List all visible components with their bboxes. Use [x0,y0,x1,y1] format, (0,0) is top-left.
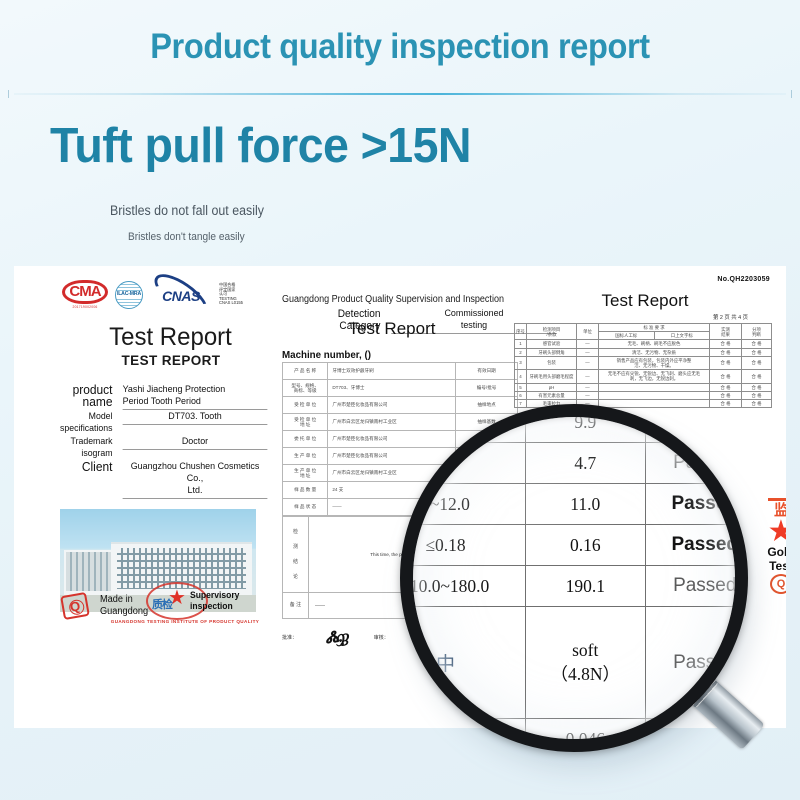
page-indicator: 第 2 页 共 4 页 [514,313,776,321]
cell-judgement: Passed [645,525,748,566]
cell-value: 190.1 [526,566,645,607]
cell-judgement: Passed [645,719,748,753]
cell-requirement [599,383,710,391]
certificate-title: Test Report [49,323,268,352]
cell-requirement: 无毛不应有尖锐、无锐边、无飞刺、磨头应无毛刺，无飞边，无锐边刺。 [599,370,710,383]
col-unit: 单位 [577,324,599,340]
certificate-title-en: TEST REPORT [44,353,272,368]
cell-spec [400,404,526,443]
right-report-title: Test Report [514,291,776,311]
cell-value: 牙博士双效护龈牙刷 [328,363,456,380]
cell-value: 9.9 [526,404,645,443]
cell-value: soft（4.8N） [526,607,645,719]
cell-value: 4.7 [526,443,645,484]
cell-judgement: 合 格 [742,348,772,356]
machine-number-label: Machine number, () [282,349,515,361]
certificate-panel: CMA 201719002006 ILAC-MRA CNAS 中国合格评定国家认… [44,280,272,680]
right-report-table: 序号 检测项目/条款 单位 标 准 要 求 实测结果 分项判断 国标人工标 口上… [514,323,772,408]
cell-requirement: 销售产品应有包装，包装内外应平净整洁、无污物、干燥。 [599,356,710,369]
subcol-b: 口上文字标 [654,332,710,340]
table-row: 产 品 名 称 牙博士双效护龈牙刷 有效日期 [283,363,518,380]
cell-judgement: combine [645,404,748,443]
cell-right: 有效日期 [456,363,518,380]
cell-result: 合 格 [710,340,742,348]
col-item: 检测项目/条款 [527,324,577,340]
field-trademark-isogram: Trademark isogram Doctor [44,436,272,460]
certificate-fields: productname Yashi Jiacheng ProtectionPer… [44,384,272,499]
approve-label: 批准： [282,634,297,641]
cell-item: 感官试验 [527,340,577,348]
cell-unit: — [577,356,599,369]
table-row: .0 4.7 Passed [400,443,748,484]
accreditation-logos: CMA 201719002006 ILAC-MRA CNAS 中国合格评定国家认… [44,280,272,309]
col-no: 序号 [515,324,527,340]
cell-item: 牙刷毛用头部磨毛程度 [527,370,577,383]
field-client: Client Guangzhou Chushen Cosmetics Co.,L… [44,461,272,499]
cell-result: 合 格 [710,370,742,383]
supervisory-inspection-label: Supervisory inspection [190,590,264,612]
cell-unit: — [577,348,599,356]
col-judgement: 分项判断 [742,324,772,340]
right-report-panel: No.QH2203059 Test Report 第 2 页 共 4 页 序号 … [514,276,776,408]
cnas-caption: 中国合格评定国家认可TESTINGCNAS L0155 [219,283,243,306]
cell-result: 合 格 [710,383,742,391]
field-model-specifications: Model specifications DT703. Tooth [44,411,272,435]
table-row: 3 包装 — 销售产品应有包装，包装内外应平净整洁、无污物、干燥。 合 格 合 … [515,356,772,369]
cell-no: 2 [515,348,527,356]
cell-judgement: 合 格 [742,356,772,369]
cell-key: 受 检 单 位地 址 [283,414,328,431]
page-title: Product quality inspection report [28,0,772,67]
cell-result: 合 格 [710,356,742,369]
q-mark-icon: Q [60,592,90,620]
cell-unit: — [577,370,599,383]
table-row: 2 牙刷头部倒角 — 清洁、无污物、无杂质 合 格 合 格 [515,348,772,356]
cell-item: pH [527,383,577,391]
table-row: 110.0~180.0 190.1 Passed [400,566,748,607]
cell-judgement: 合 格 [742,383,772,391]
cell-key: 产 品 名 称 [283,363,328,380]
table-header-row: 序号 检测项目/条款 单位 标 准 要 求 实测结果 分项判断 [515,324,772,332]
cell-key: 生 产 单 位 [283,448,328,465]
cell-key: 样 品 数 量 [283,482,328,499]
table-row: 于 0.08mm 0.046 Passed [400,719,748,753]
cell-key: 型号、规格、商标、等级 [283,380,328,397]
subcol-a: 国标人工标 [599,332,655,340]
cell-item: 牙刷头部倒角 [527,348,577,356]
cell-judgement: Passed [645,484,748,525]
table-row: 中 soft（4.8N） Passed [400,607,748,719]
ilac-mra-logo-icon: ILAC-MRA [115,281,143,309]
cell-no: 1 [515,340,527,348]
cell-value: 11.0 [526,484,645,525]
cell-key: 样 品 状 态 [283,499,328,516]
institute-band-text: GUANGDONG TESTING INSTITUTE OF PRODUCT Q… [106,619,264,624]
cell-spec: .0 [400,443,526,484]
magnified-table: 9.9 combine .0 4.7 Passed 0~12.0 11.0 Pa… [400,404,748,752]
cnas-logo-icon: CNAS [150,282,212,308]
mid-report-org: Guangdong Product Quality Supervision an… [282,294,512,305]
col-requirement: 标 准 要 求 [599,324,710,332]
cell-value: 0.16 [526,525,645,566]
cell-no: 3 [515,356,527,369]
cma-logo-icon: CMA 201719002006 [62,280,108,309]
cell-judgement: 合 格 [742,370,772,383]
table-row: 9.9 combine [400,404,748,443]
col-result: 实测结果 [710,324,742,340]
magnifier[interactable]: 9.9 combine .0 4.7 Passed 0~12.0 11.0 Pa… [394,398,766,770]
cell-key: 受 检 单 位 [283,397,328,414]
cell-unit: — [577,383,599,391]
stamp-bar-icon [768,498,786,501]
remark-label: 备 注 [283,593,309,619]
subtitle-primary: Bristles do not fall out easily [110,203,264,218]
subtitle-secondary: Bristles don't tangle easily [128,231,245,243]
q-circle-icon: Q [770,574,786,594]
table-row: 4 牙刷毛用头部磨毛程度 — 无毛不应有尖锐、无锐边、无飞刺、磨头应无毛刺，无飞… [515,370,772,383]
table-row: 0~12.0 11.0 Passed [400,484,748,525]
cell-judgement: 合 格 [742,340,772,348]
table-row: ≤0.18 0.16 Passed [400,525,748,566]
table-row: 型号、规格、商标、等级 DT703、牙博士 编号/批号 [283,380,518,397]
magnifier-lens: 9.9 combine .0 4.7 Passed 0~12.0 11.0 Pa… [400,404,748,752]
field-product-name: productname Yashi Jiacheng ProtectionPer… [44,384,272,410]
cell-spec: ≤0.18 [400,525,526,566]
cell-item: 包装 [527,356,577,369]
magnifier-content: 9.9 combine .0 4.7 Passed 0~12.0 11.0 Pa… [413,417,735,739]
cell-requirement: 无毛、刷柄、刷毛不应脱色 [599,340,710,348]
headline: Tuft pull force >15N [50,118,471,174]
cell-judgement: Passed [645,607,748,719]
made-in-label: Made inGuangdong [100,594,148,617]
cell-key: 委 托 单 位 [283,431,328,448]
cell-value: DT703、牙博士 [328,380,456,397]
review-label: 审核： [374,634,389,641]
conclusion-label: 检测结论 [283,517,309,593]
cell-judgement: Passed [645,566,748,607]
table-row: 1 感官试验 — 无毛、刷柄、刷毛不应脱色 合 格 合 格 [515,340,772,348]
cell-no: 4 [515,370,527,383]
header-divider [14,93,786,95]
cell-judgement: Passed [645,443,748,484]
cell-spec: 110.0~180.0 [400,566,526,607]
cell-requirement: 清洁、无污物、无杂质 [599,348,710,356]
stamp-star-icon: ★ [168,588,186,608]
certificate-footer: Q Made inGuangdong 质检 ★ Supervisory insp… [60,578,272,618]
cell-unit: — [577,340,599,348]
cell-key: 生 产 单 位地 址 [283,465,328,482]
cell-spec: 中 [400,607,526,719]
cell-result: 合 格 [710,348,742,356]
cell-spec: 0~12.0 [400,484,526,525]
report-number: No.QH2203059 [514,276,776,283]
cell-right: 编号/批号 [456,380,518,397]
table-row: 5 pH — 合 格 合 格 [515,383,772,391]
cell-no: 5 [515,383,527,391]
approve-signature: Ꮬᦇᧆ [325,627,346,647]
mid-report-title: Test Report [282,319,532,339]
